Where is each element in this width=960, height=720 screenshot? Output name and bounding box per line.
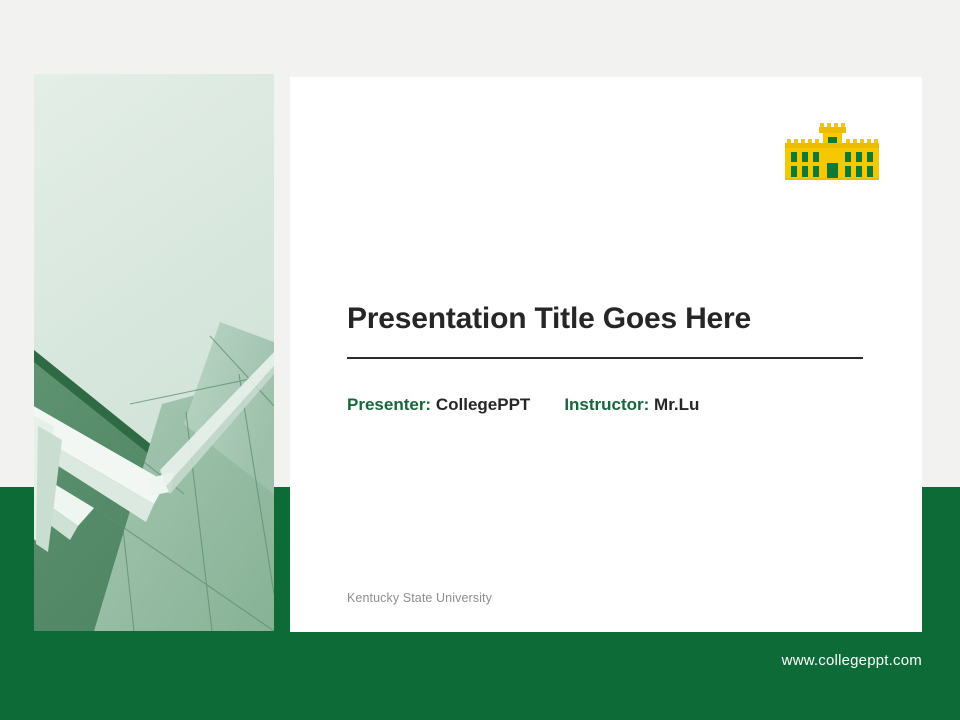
university-building-artwork <box>782 123 882 181</box>
university-building-icon <box>782 123 882 181</box>
architecture-photo-artwork <box>34 74 274 631</box>
credit-instructor: Instructor: Mr.Lu <box>564 395 699 415</box>
presenter-label: Presenter: <box>347 395 431 414</box>
instructor-value: Mr.Lu <box>654 395 699 414</box>
title-block: Presentation Title Goes Here <box>347 302 863 359</box>
credit-presenter: Presenter: CollegePPT <box>347 395 530 415</box>
page-title: Presentation Title Goes Here <box>347 302 863 337</box>
content-card: Presentation Title Goes Here Presenter: … <box>290 77 922 632</box>
instructor-label: Instructor: <box>564 395 649 414</box>
school-name: Kentucky State University <box>347 591 492 605</box>
site-url: www.collegeppt.com <box>782 652 922 669</box>
presenter-value: CollegePPT <box>436 395 530 414</box>
architecture-photo <box>34 74 274 631</box>
presentation-slide: Presentation Title Goes Here Presenter: … <box>0 0 960 720</box>
credits-row: Presenter: CollegePPT Instructor: Mr.Lu <box>347 395 699 415</box>
title-divider <box>347 357 863 359</box>
